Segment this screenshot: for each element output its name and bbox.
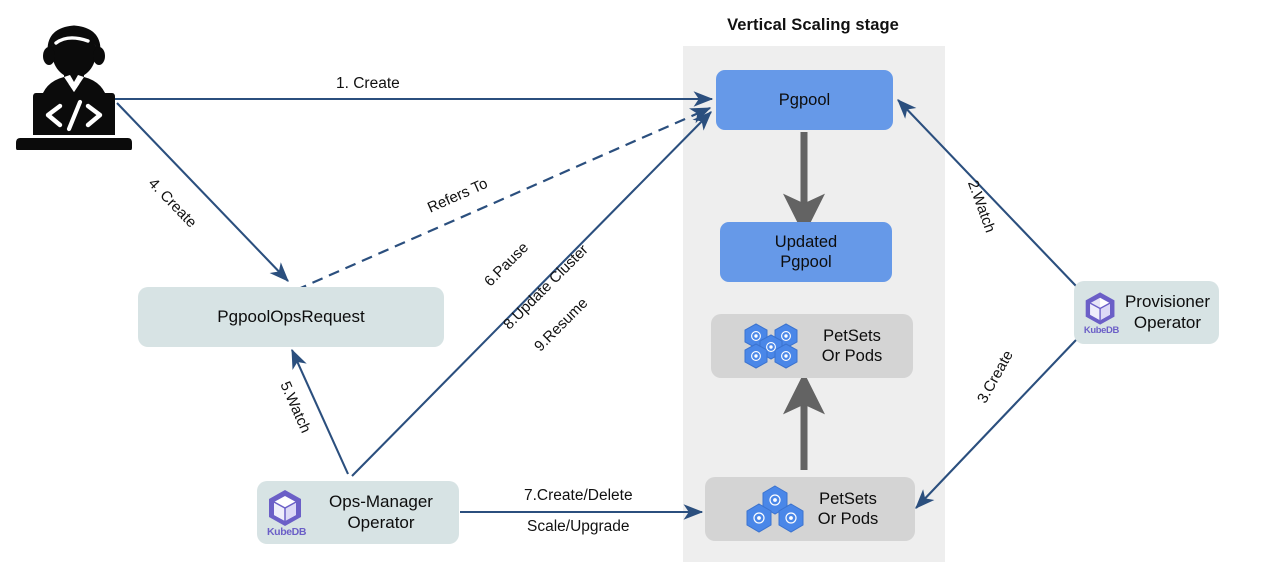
vertical-scaling-stage-title: Vertical Scaling stage [633, 16, 993, 35]
edge-4-create [117, 103, 288, 281]
edge-label-1-create: 1. Create [336, 75, 400, 93]
node-petsets-bottom[interactable]: PetSets Or Pods [705, 477, 915, 541]
node-ops-manager-operator-label: Ops-Manager Operator [312, 492, 450, 533]
node-petsets-top[interactable]: PetSets Or Pods [711, 314, 913, 378]
edge-label-5-watch: 5.Watch [276, 379, 314, 436]
developer-at-laptop-icon [12, 14, 136, 150]
node-pgpool-ops-request[interactable]: PgpoolOpsRequest [138, 287, 444, 347]
pod-cluster-5-icon [742, 322, 816, 370]
edge-label-2-watch: 2.Watch [964, 178, 999, 235]
node-updated-pgpool[interactable]: Updated Pgpool [720, 222, 892, 282]
node-updated-pgpool-label: Updated Pgpool [775, 232, 837, 272]
edge-label-4-create: 4. Create [145, 175, 200, 231]
edge-label-7-create-delete: 7.Create/Delete [524, 487, 633, 505]
node-petsets-top-label: PetSets Or Pods [822, 326, 883, 366]
edge-label-6-pause: 6.Pause [481, 239, 532, 290]
svg-text:KubeDB: KubeDB [1084, 323, 1119, 334]
node-petsets-bottom-label: PetSets Or Pods [818, 489, 879, 529]
kubedb-logo: KubeDB [266, 489, 306, 537]
node-pgpool-label: Pgpool [779, 90, 830, 110]
node-pgpool-ops-request-label: PgpoolOpsRequest [217, 307, 364, 328]
node-pgpool[interactable]: Pgpool [716, 70, 893, 130]
pod-cluster-3-icon [742, 484, 812, 534]
node-ops-manager-operator[interactable]: KubeDB Ops-Manager Operator [257, 481, 459, 544]
kubedb-logo: KubeDB [1083, 289, 1119, 337]
node-provisioner-operator[interactable]: KubeDB Provisioner Operator [1074, 281, 1219, 344]
edge-label-refers-to: Refers To [425, 175, 490, 217]
diagram-canvas: Vertical Scaling stage [0, 0, 1266, 582]
edge-label-scale-upgrade: Scale/Upgrade [527, 518, 630, 536]
node-provisioner-operator-label: Provisioner Operator [1125, 292, 1210, 333]
edge-label-3-create: 3.Create [974, 348, 1017, 407]
svg-text:KubeDB: KubeDB [267, 526, 306, 537]
developer-actor [12, 14, 136, 150]
